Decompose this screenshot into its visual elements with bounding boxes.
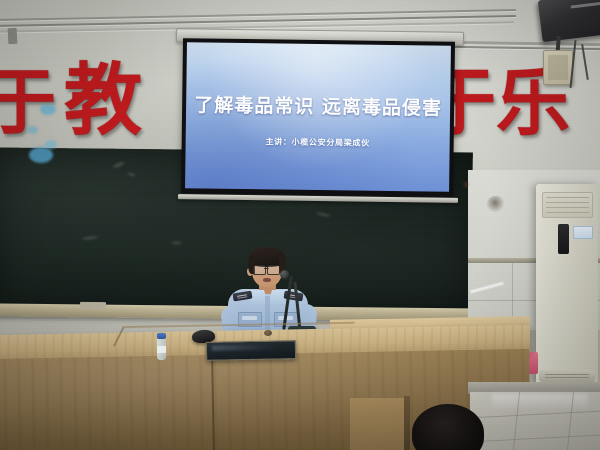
projection-screen-frame: 了解毒品常识 远离毒品侵害 主讲：小榄公安分局梁成伙 — [181, 38, 455, 197]
air-conditioner — [536, 184, 598, 384]
ac-base-vent — [539, 370, 595, 382]
ac-flower-decal — [45, 140, 57, 149]
chalkboard-eraser — [80, 302, 106, 309]
ac-brand-badge — [573, 226, 593, 239]
water-bottle-cap — [157, 333, 166, 339]
slide-subtitle: 主讲：小榄公安分局梁成伙 — [186, 135, 450, 149]
ceiling-speaker-icon — [538, 0, 600, 42]
microphone-capsule-icon — [280, 270, 289, 279]
wall-stain — [462, 180, 470, 189]
chalk-smudge — [127, 172, 136, 177]
ac-flower-decal — [27, 126, 38, 134]
wall-stain — [487, 196, 505, 213]
glasses-icon — [253, 265, 280, 273]
chalk-smudge — [172, 241, 182, 244]
speaker-brand-strip — [571, 1, 600, 8]
ac-body-panel — [539, 260, 595, 370]
ac-flower-decal — [40, 104, 56, 115]
wall-electrical-box — [543, 50, 573, 85]
officer-mouth — [263, 278, 271, 282]
ac-vent — [542, 192, 593, 218]
water-bottle-label — [157, 346, 166, 353]
classroom-photo-scene: 于 教 于 乐 了解毒品常识 远离毒品侵害 主讲：小榄公安分局梁成伙 — [0, 0, 600, 450]
chalk-smudge — [82, 235, 98, 240]
foreground-desk-panel — [350, 398, 410, 450]
foreground-desk-edge — [404, 396, 410, 450]
wall-banner-character-2: 教 — [64, 62, 142, 140]
rail-clip — [8, 28, 18, 44]
glasses-lens — [267, 265, 280, 275]
glasses-lens — [253, 265, 266, 275]
desk-knob — [264, 330, 272, 336]
chalk-smudge — [316, 211, 330, 217]
ac-flower-decal — [29, 147, 53, 163]
recessed-laptop-monitor — [206, 340, 296, 361]
slide-title: 了解毒品常识 远离毒品侵害 — [186, 90, 450, 120]
projection-screen: 了解毒品常识 远离毒品侵害 主讲：小榄公安分局梁成伙 — [185, 42, 451, 191]
chalk-smudge — [112, 161, 125, 169]
floor-reflection — [492, 394, 588, 410]
ac-display-panel — [558, 224, 569, 254]
